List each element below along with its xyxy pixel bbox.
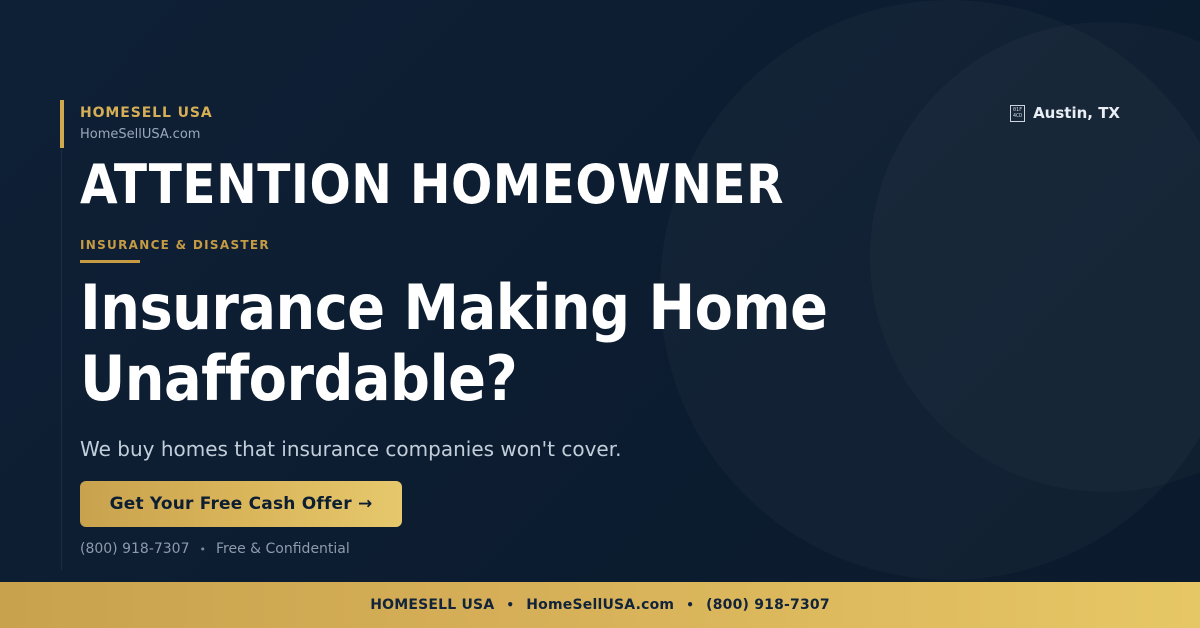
category-eyebrow: INSURANCE & DISASTER	[80, 238, 270, 252]
trust-separator: •	[200, 543, 207, 556]
brand-url: HomeSellUSA.com	[80, 127, 213, 142]
subheadline: We buy homes that insurance companies wo…	[80, 436, 621, 462]
page-title: Insurance Making Home Unaffordable?	[80, 272, 980, 415]
attention-heading: ATTENTION HOMEOWNER	[80, 158, 784, 212]
eyebrow-underline-rule	[80, 260, 140, 263]
brand-name: HOMESELL USA	[80, 105, 213, 121]
footer-brand: HOMESELL USA	[370, 597, 494, 613]
location-badge: 01F 4CD Austin, TX	[1010, 104, 1120, 122]
vertical-divider-line	[61, 150, 62, 570]
footer-url: HomeSellUSA.com	[526, 597, 674, 613]
footer-separator-2: •	[686, 598, 694, 612]
footer-bar: HOMESELL USA • HomeSellUSA.com • (800) 9…	[0, 582, 1200, 628]
get-free-cash-offer-button[interactable]: Get Your Free Cash Offer →	[80, 481, 402, 527]
footer-separator-1: •	[506, 598, 514, 612]
content-area: HOMESELL USA HomeSellUSA.com 01F 4CD Aus…	[80, 0, 1120, 628]
phone-number: (800) 918-7307	[80, 541, 190, 557]
trust-line: (800) 918-7307 • Free & Confidential	[80, 541, 350, 557]
location-label: Austin, TX	[1033, 104, 1120, 122]
confidential-note: Free & Confidential	[216, 541, 350, 557]
gold-accent-bar	[60, 100, 64, 148]
promo-banner: HOMESELL USA HomeSellUSA.com 01F 4CD Aus…	[0, 0, 1200, 628]
footer-phone: (800) 918-7307	[706, 597, 830, 613]
pushpin-icon: 01F 4CD	[1010, 105, 1025, 122]
pushpin-icon-codepoint-bottom: 4CD	[1013, 113, 1022, 119]
brand-block: HOMESELL USA HomeSellUSA.com	[80, 105, 213, 142]
